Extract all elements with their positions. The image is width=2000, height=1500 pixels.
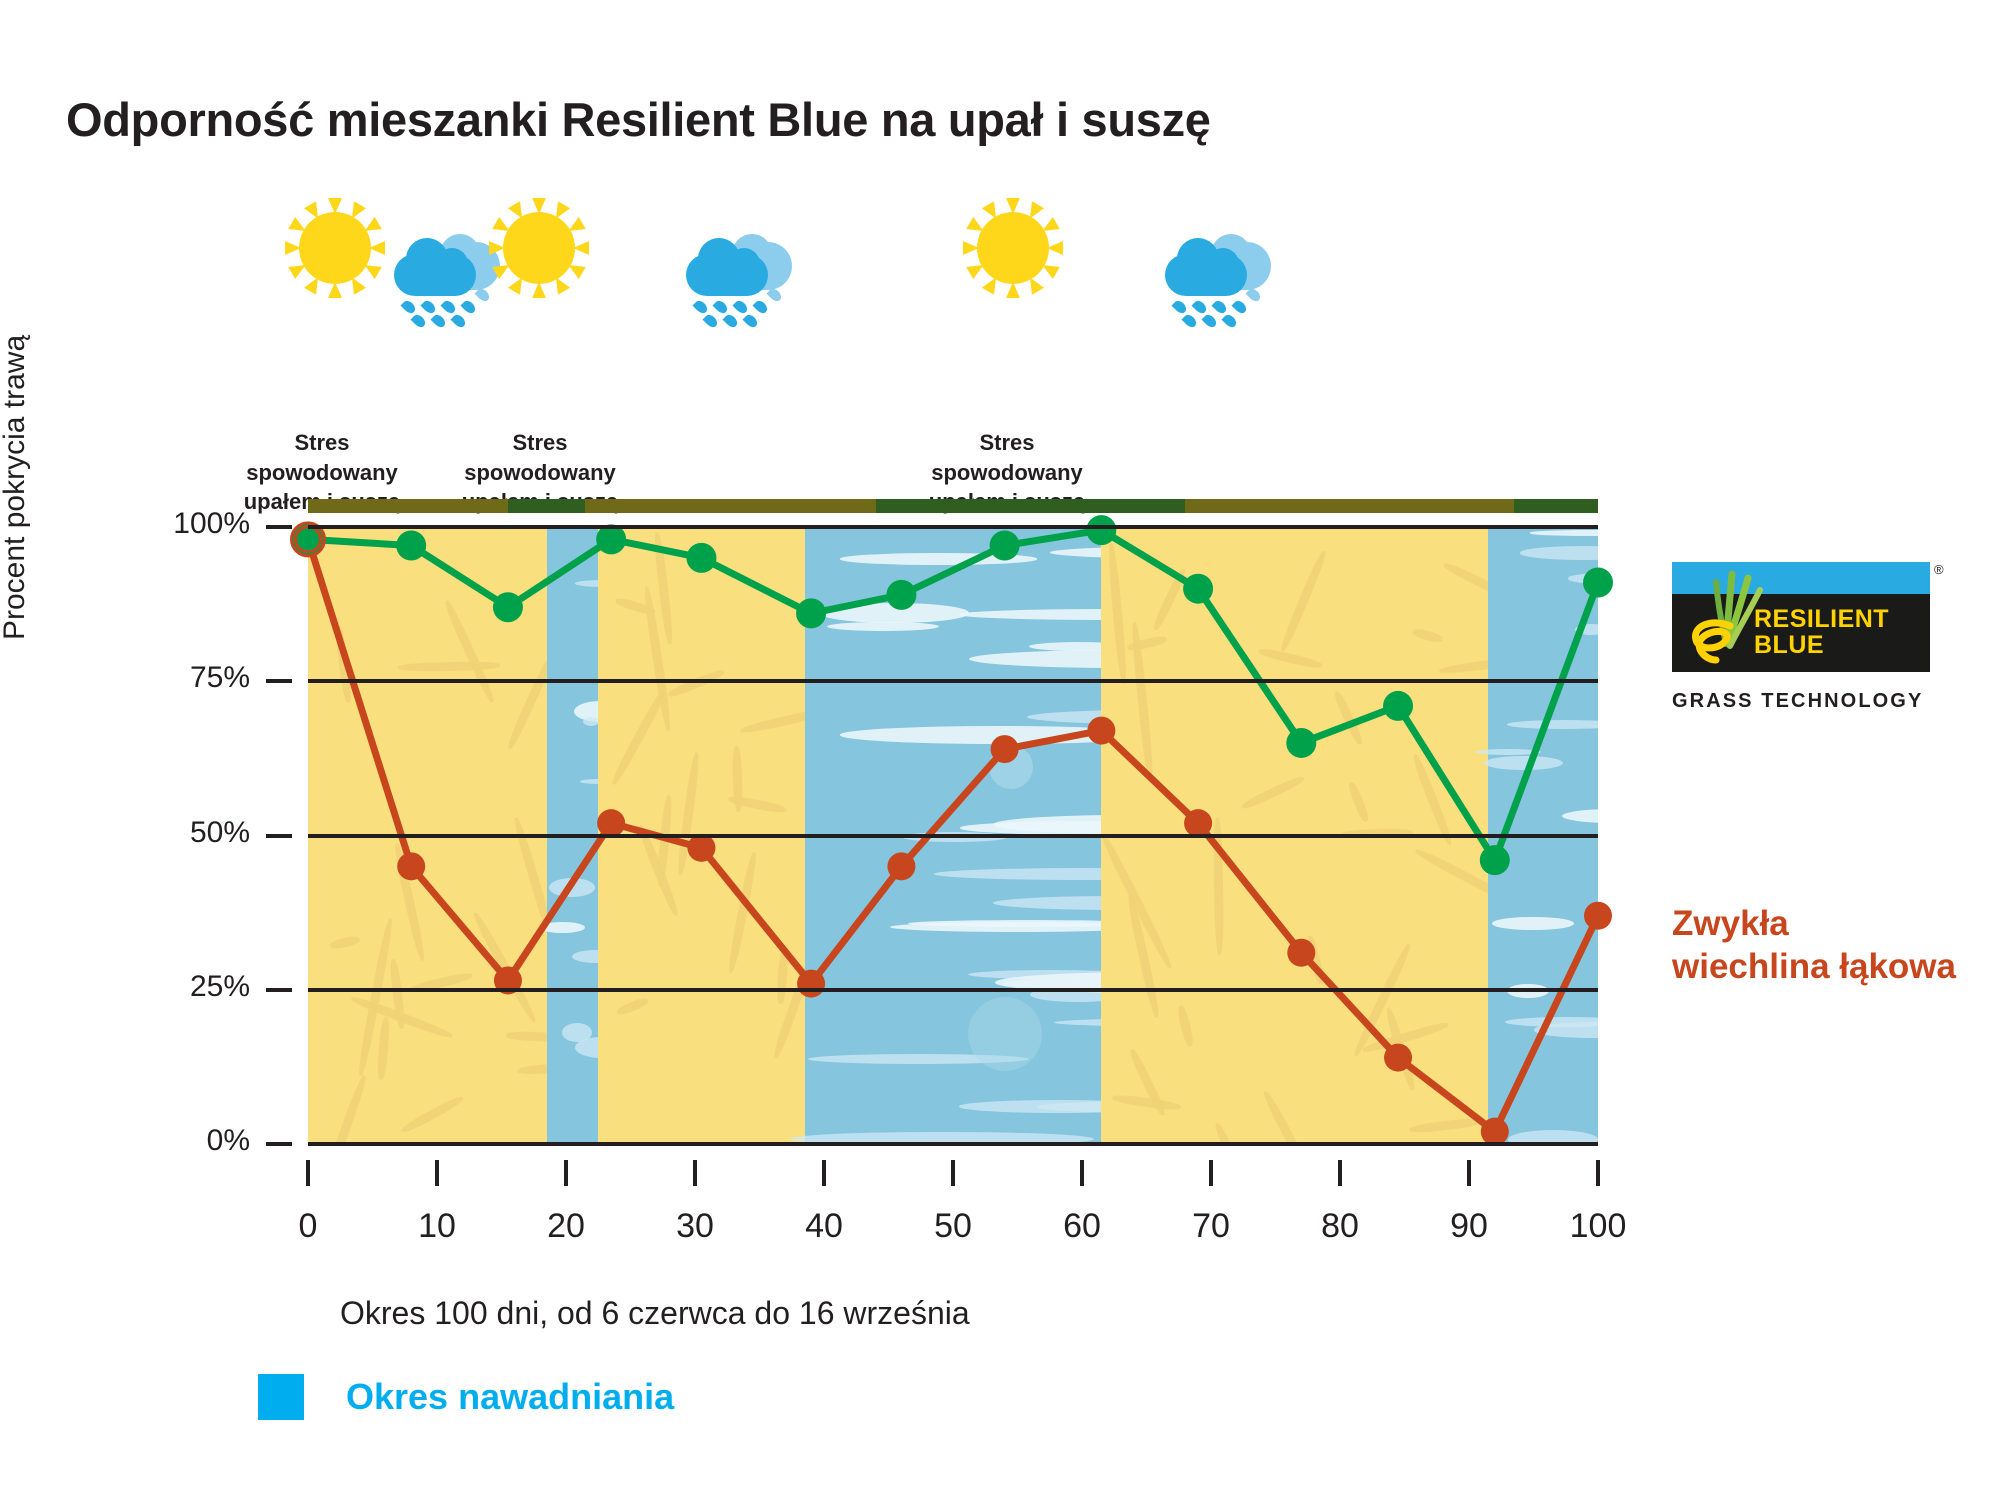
data-point[interactable] (396, 531, 426, 561)
x-tick-label: 30 (635, 1207, 755, 1246)
logo-word-line1: RESILIENT (1754, 606, 1889, 632)
gridline (308, 525, 1598, 529)
rain-drop (451, 313, 468, 330)
data-point[interactable] (990, 531, 1020, 561)
rain-drop (703, 313, 720, 330)
soil-line (876, 499, 1186, 513)
series-label-line2: wiechlina łąkowa (1672, 946, 1956, 989)
x-tick-label: 0 (248, 1207, 368, 1246)
series-label-kentucky-bluegrass: Zwykła wiechlina łąkowa (1672, 903, 1956, 988)
x-tick-mark (693, 1160, 697, 1186)
y-tick-mark (266, 1142, 292, 1146)
data-point[interactable] (991, 735, 1019, 763)
x-tick-mark (951, 1160, 955, 1186)
x-tick-label: 80 (1280, 1207, 1400, 1246)
y-tick-label: 50% (100, 816, 250, 850)
x-tick-mark (435, 1160, 439, 1186)
rain-cloud-icon (392, 232, 502, 322)
rain-drop (441, 299, 458, 316)
data-point[interactable] (1383, 691, 1413, 721)
logo-wordmark: RESILIENT BLUE (1754, 606, 1889, 658)
y-axis-title: Procent pokrycia trawą (0, 335, 32, 640)
gridline (308, 679, 1598, 683)
cloud-part (436, 248, 468, 280)
sun-ray (369, 241, 385, 255)
rain-drop (1222, 313, 1239, 330)
data-point[interactable] (687, 834, 715, 862)
data-point[interactable] (797, 970, 825, 998)
sun-ray (1047, 241, 1063, 255)
y-tick-label: 100% (100, 507, 250, 541)
dry-turf (585, 413, 875, 513)
y-tick-mark (266, 834, 292, 838)
gridline (308, 988, 1598, 992)
sun-ray (1006, 282, 1020, 298)
sun-disc (503, 212, 575, 284)
soil-line (1185, 499, 1514, 513)
rain-drop (1212, 299, 1229, 316)
logo-mark: RESILIENT BLUE ® (1672, 562, 1930, 672)
data-point[interactable] (686, 543, 716, 573)
rain-drop (461, 299, 478, 316)
data-point[interactable] (1384, 1044, 1412, 1072)
rain-drop (1182, 313, 1199, 330)
x-tick-label: 100 (1538, 1207, 1658, 1246)
healthy-turf (876, 413, 1186, 513)
rain-drop (421, 299, 438, 316)
registered-trademark-icon: ® (1934, 562, 1944, 577)
legend-label-irrigation: Okres nawadniania (346, 1376, 674, 1418)
x-tick-mark (1209, 1160, 1213, 1186)
healthy-turf (508, 413, 585, 513)
data-point[interactable] (1584, 902, 1612, 930)
data-point[interactable] (887, 852, 915, 880)
x-tick-mark (822, 1160, 826, 1186)
rain-drop (693, 299, 710, 316)
sun-icon (285, 198, 385, 298)
rain-drop (431, 313, 448, 330)
legend: Okres nawadniania (258, 1374, 674, 1420)
logo-word-line2: BLUE (1754, 632, 1889, 658)
cloud-part (728, 248, 760, 280)
legend-swatch-irrigation (258, 1374, 304, 1420)
dry-turf (1185, 413, 1514, 513)
x-axis-title: Okres 100 dni, od 6 czerwca do 16 wrześn… (340, 1295, 970, 1332)
x-tick-mark (1596, 1160, 1600, 1186)
chart-plot-area (308, 527, 1598, 1144)
y-tick-label: 75% (100, 661, 250, 695)
rain-drop (733, 299, 750, 316)
sun-ray (328, 282, 342, 298)
gridline (308, 834, 1598, 838)
x-tick-label: 40 (764, 1207, 884, 1246)
logo-tagline: GRASS TECHNOLOGY (1672, 690, 1944, 713)
dry-turf (308, 413, 508, 513)
rain-drop (1232, 299, 1249, 316)
cloud-part (1207, 248, 1239, 280)
rain-drop (1172, 299, 1189, 316)
rain-drop (743, 313, 760, 330)
data-point[interactable] (1480, 845, 1510, 875)
rain-drop (713, 299, 730, 316)
y-tick-mark (266, 679, 292, 683)
rain-cloud-icon (684, 232, 794, 322)
rain-cloud-icon (1163, 232, 1273, 322)
x-tick-label: 70 (1151, 1207, 1271, 1246)
x-tick-label: 50 (893, 1207, 1013, 1246)
data-point[interactable] (886, 580, 916, 610)
rain-drop (1192, 299, 1209, 316)
data-point[interactable] (1086, 515, 1116, 545)
x-tick-label: 90 (1409, 1207, 1529, 1246)
rain-drop (753, 299, 770, 316)
soil-line (308, 499, 508, 513)
sun-disc (299, 212, 371, 284)
healthy-turf (1514, 413, 1598, 513)
sun-ray (532, 282, 546, 298)
sun-icon (963, 198, 1063, 298)
x-tick-mark (1467, 1160, 1471, 1186)
data-point[interactable] (1183, 574, 1213, 604)
soil-line (585, 499, 875, 513)
data-point[interactable] (493, 592, 523, 622)
soil-line (508, 499, 585, 513)
rain-drop (723, 313, 740, 330)
x-tick-label: 60 (1022, 1207, 1142, 1246)
x-tick-label: 10 (377, 1207, 497, 1246)
x-tick-mark (1080, 1160, 1084, 1186)
data-point[interactable] (1087, 717, 1115, 745)
gridline (308, 1142, 1598, 1146)
soil-line (1514, 499, 1598, 513)
data-point[interactable] (397, 852, 425, 880)
y-tick-label: 25% (100, 970, 250, 1004)
y-tick-label: 0% (100, 1124, 250, 1158)
x-tick-label: 20 (506, 1207, 626, 1246)
x-tick-mark (306, 1160, 310, 1186)
rain-drop (401, 299, 418, 316)
data-point[interactable] (297, 528, 319, 550)
rain-drop (1202, 313, 1219, 330)
page-title: Odporność mieszanki Resilient Blue na up… (66, 92, 1211, 147)
rain-drop (411, 313, 428, 330)
y-tick-mark (266, 988, 292, 992)
y-tick-mark (266, 525, 292, 529)
data-point[interactable] (1287, 939, 1315, 967)
data-point[interactable] (1286, 728, 1316, 758)
series-label-line1: Zwykła (1672, 903, 1956, 946)
sun-ray (573, 241, 589, 255)
data-point[interactable] (1583, 568, 1613, 598)
sun-icon (489, 198, 589, 298)
x-tick-mark (564, 1160, 568, 1186)
resilient-blue-logo: RESILIENT BLUE ® GRASS TECHNOLOGY (1672, 562, 1944, 713)
sun-disc (977, 212, 1049, 284)
data-point[interactable] (796, 598, 826, 628)
x-tick-mark (1338, 1160, 1342, 1186)
